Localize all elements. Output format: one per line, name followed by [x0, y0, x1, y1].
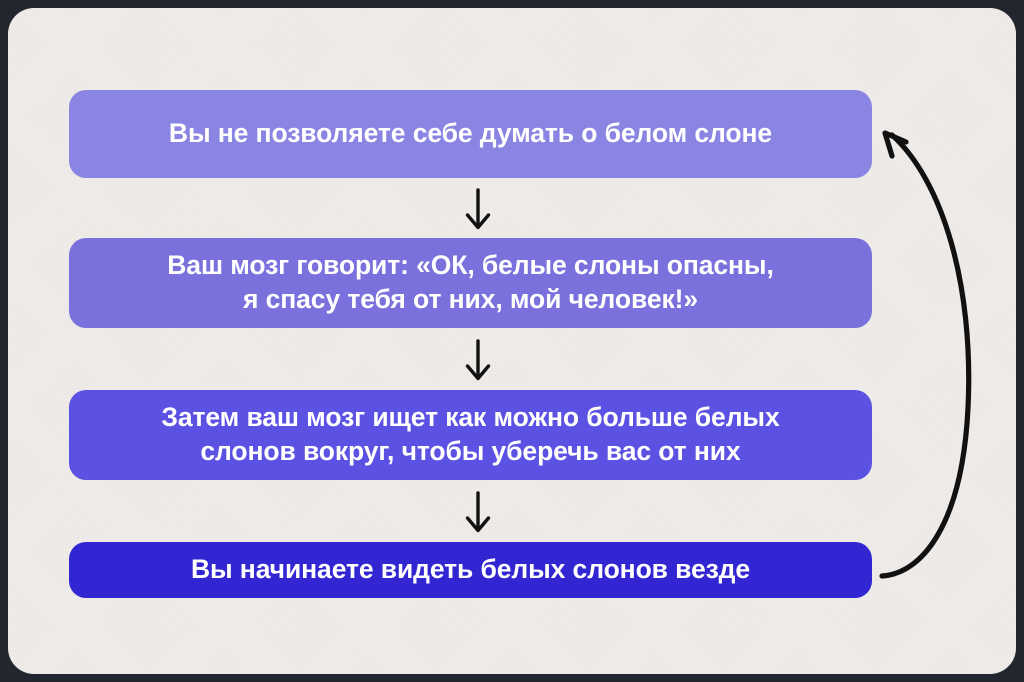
arrow-down-icon-2	[455, 339, 501, 385]
flow-node-2: Ваш мозг говорит: «ОК, белые слоны опасн…	[69, 238, 872, 328]
flow-node-3-label: Затем ваш мозг ищет как можно больше бел…	[161, 401, 779, 469]
flow-node-4: Вы начинаете видеть белых слонов везде	[69, 542, 872, 598]
flowchart: Вы не позволяете себе думать о белом сло…	[8, 8, 1016, 674]
arrow-down-icon-3	[455, 491, 501, 537]
flow-node-3: Затем ваш мозг ищет как можно больше бел…	[69, 390, 872, 480]
flow-node-1-label: Вы не позволяете себе думать о белом сло…	[169, 117, 772, 151]
feedback-loop-arrow-icon	[858, 108, 998, 598]
flow-node-4-label: Вы начинаете видеть белых слонов везде	[191, 553, 750, 587]
arrow-down-icon-1	[455, 188, 501, 234]
flow-node-1: Вы не позволяете себе думать о белом сло…	[69, 90, 872, 178]
flow-node-2-label: Ваш мозг говорит: «ОК, белые слоны опасн…	[167, 249, 773, 317]
diagram-card: Вы не позволяете себе думать о белом сло…	[8, 8, 1016, 674]
